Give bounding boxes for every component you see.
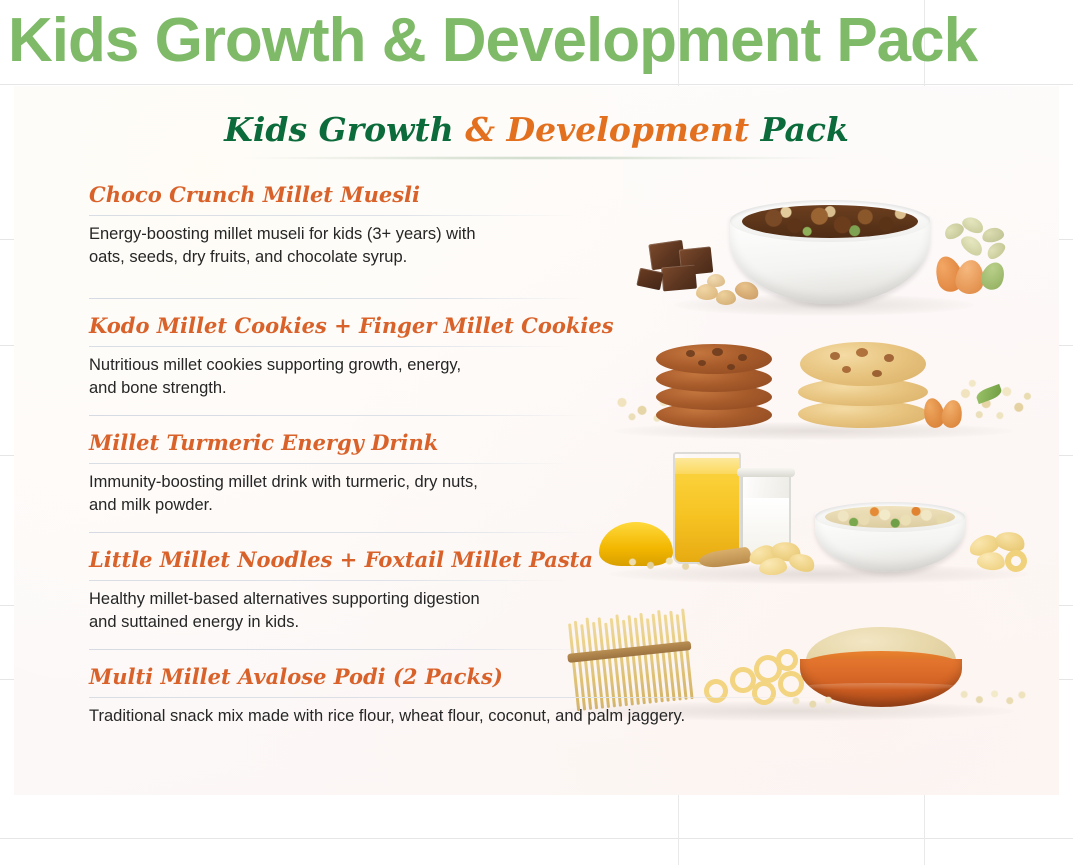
- page-root: Kids Growth & Development Pack Kids Grow…: [0, 0, 1073, 865]
- card-title-segment-orange: & Development: [465, 110, 760, 149]
- product-list: Choco Crunch Millet Muesli Energy-boosti…: [14, 182, 1059, 740]
- item-underline: [89, 215, 574, 216]
- item-underline: [89, 346, 574, 347]
- card-title-underline-flourish: [237, 156, 837, 160]
- item-description: Energy-boosting millet museli for kids (…: [89, 223, 574, 269]
- list-item[interactable]: Kodo Millet Cookies + Finger Millet Cook…: [14, 299, 1059, 415]
- item-underline: [89, 580, 574, 581]
- item-underline: [89, 697, 834, 698]
- section-separator: [89, 415, 589, 416]
- item-title: Multi Millet Avalose Podi (2 Packs): [89, 664, 834, 690]
- card-title: Kids Growth & Development Pack: [14, 110, 1059, 150]
- grid-line-horizontal: [0, 838, 1073, 839]
- product-card: Kids Growth & Development Pack: [14, 86, 1059, 795]
- card-title-segment-green-start: Kids Growth: [224, 110, 465, 149]
- item-title: Little Millet Noodles + Foxtail Millet P…: [89, 547, 574, 573]
- section-separator: [89, 532, 589, 533]
- section-separator: [89, 298, 589, 299]
- list-item[interactable]: Millet Turmeric Energy Drink Immunity-bo…: [14, 416, 1059, 532]
- grid-line-horizontal: [0, 84, 1073, 85]
- item-description: Nutritious millet cookies supporting gro…: [89, 354, 574, 400]
- list-item[interactable]: Multi Millet Avalose Podi (2 Packs) Trad…: [14, 650, 1059, 740]
- list-item[interactable]: Choco Crunch Millet Muesli Energy-boosti…: [14, 182, 1059, 298]
- item-description: Healthy millet-based alternatives suppor…: [89, 588, 574, 634]
- section-separator: [89, 649, 589, 650]
- item-title: Kodo Millet Cookies + Finger Millet Cook…: [89, 313, 574, 339]
- item-description: Immunity-boosting millet drink with turm…: [89, 471, 574, 517]
- page-title: Kids Growth & Development Pack: [8, 6, 1068, 76]
- card-title-segment-green-end: Pack: [761, 110, 849, 149]
- item-title: Choco Crunch Millet Muesli: [89, 182, 574, 208]
- item-underline: [89, 463, 574, 464]
- item-description: Traditional snack mix made with rice flo…: [89, 705, 834, 728]
- item-title: Millet Turmeric Energy Drink: [89, 430, 574, 456]
- list-item[interactable]: Little Millet Noodles + Foxtail Millet P…: [14, 533, 1059, 649]
